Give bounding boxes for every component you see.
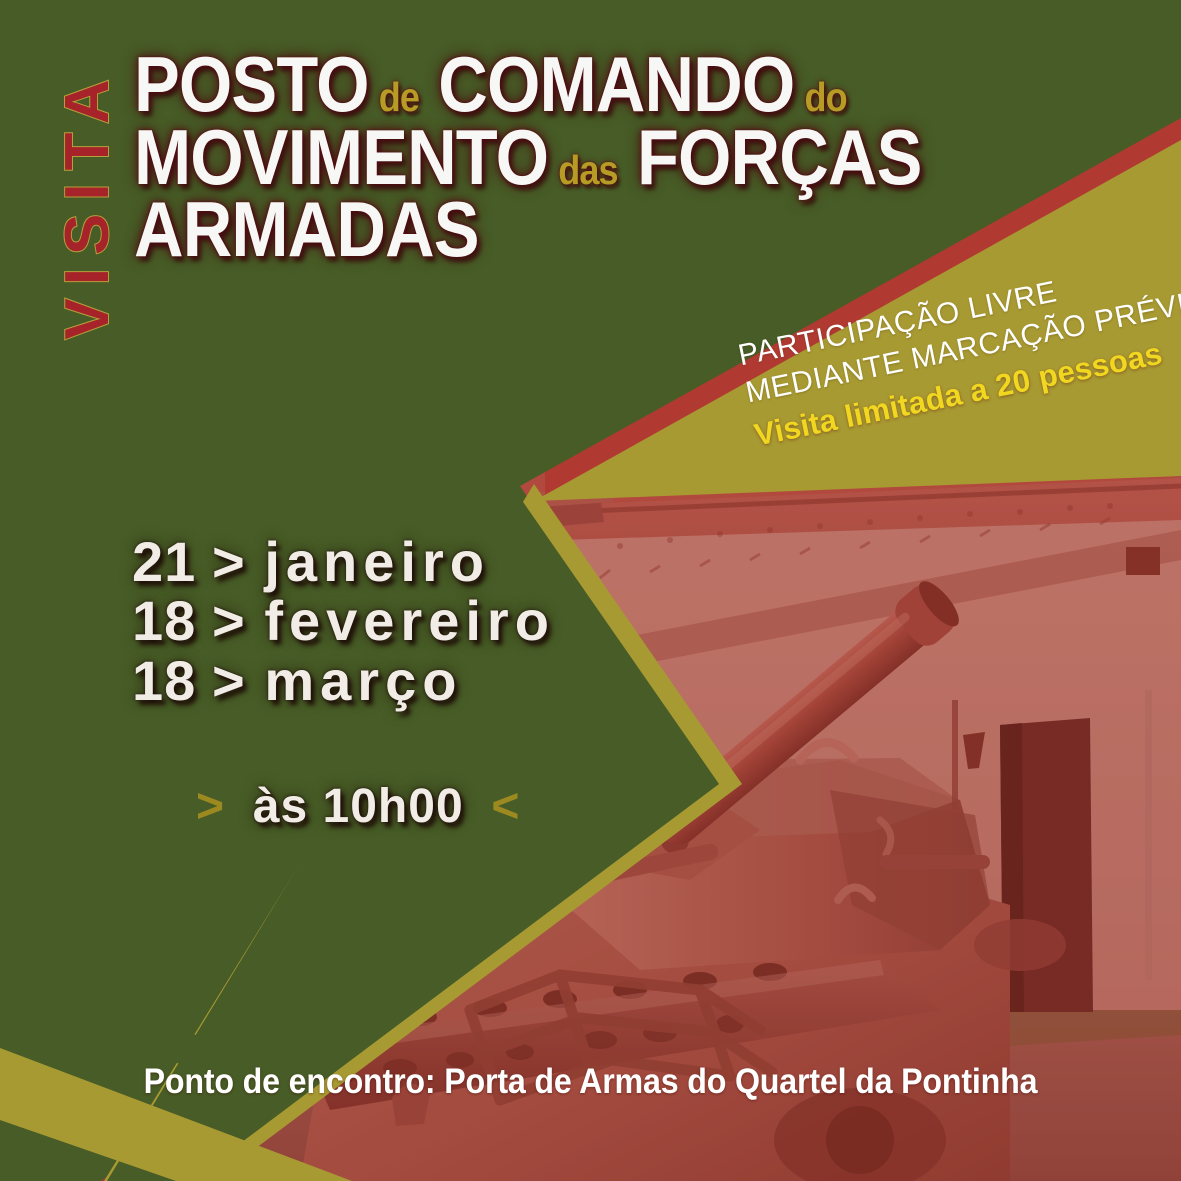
date-row-fevereiro: 18>fevereiro [132,591,555,650]
date-month-2: fevereiro [264,589,555,652]
poster-canvas: VISITA POSTOdeCOMANDOdo MOVIMENTOdasFORÇ… [0,0,1181,1181]
title-word-das: das [558,147,618,193]
date-day-2: 18 [132,589,196,652]
text-layer: VISITA POSTOdeCOMANDOdo MOVIMENTOdasFORÇ… [0,0,1181,1181]
visita-vertical-label: VISITA [57,38,119,368]
time-row: > às 10h00 < [196,779,520,834]
title-line-3: ARMADAS [134,193,873,266]
chevron-right-icon: > [196,780,225,833]
title-word-forcas: FORÇAS [637,113,922,201]
title-line-2: MOVIMENTOdasFORÇAS [134,121,873,194]
title-word-armadas: ARMADAS [134,185,479,273]
page-title: POSTOdeCOMANDOdo MOVIMENTOdasFORÇAS ARMA… [134,48,873,266]
participation-note: PARTICIPAÇÃO LIVRE MEDIANTE MARCAÇÃO PRÉ… [735,244,1181,455]
date-day-1: 21 [132,530,196,593]
date-sep-1: > [212,530,249,593]
date-day-3: 18 [132,649,196,712]
dates-list: 21>janeiro 18>fevereiro 18>março [132,532,555,710]
meeting-point-text: Ponto de encontro: Porta de Armas do Qua… [47,1062,1134,1102]
date-sep-3: > [212,649,249,712]
chevron-left-icon: < [491,780,520,833]
date-sep-2: > [212,589,249,652]
title-line-1: POSTOdeCOMANDOdo [134,48,873,121]
date-month-1: janeiro [264,530,490,593]
date-row-marco: 18>março [132,651,555,710]
date-month-3: março [264,649,462,712]
time-label: às 10h00 [253,780,464,833]
date-row-janeiro: 21>janeiro [132,532,555,591]
